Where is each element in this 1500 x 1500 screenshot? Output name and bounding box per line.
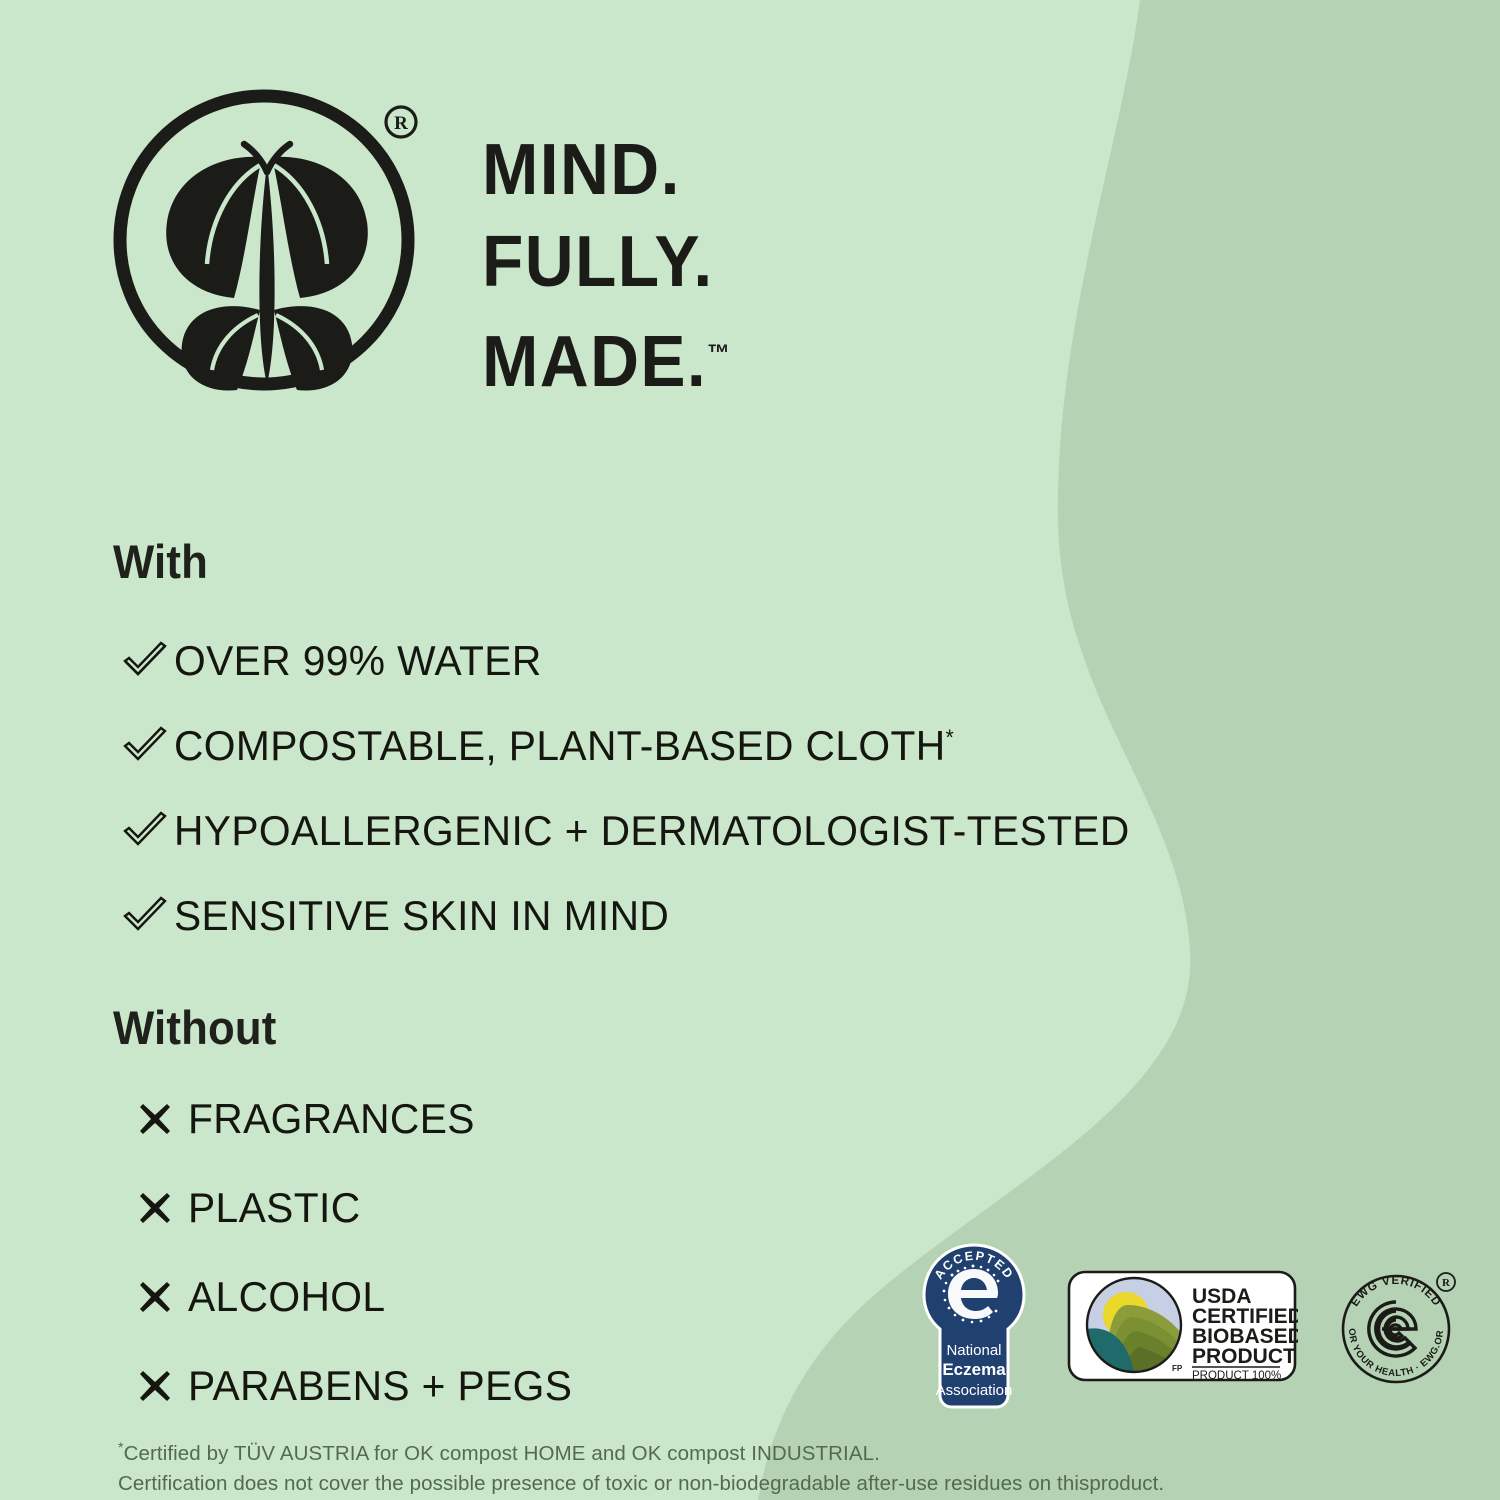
- check-icon: [122, 726, 174, 766]
- check-icon: [122, 896, 174, 936]
- list-item: FRAGRANCES: [136, 1088, 584, 1150]
- cross-icon: [136, 1100, 188, 1138]
- wordmark-line-2: FULLY.: [482, 216, 730, 308]
- footnote-line-1: *Certified by TÜV AUSTRIA for OK compost…: [118, 1432, 1388, 1469]
- without-list: FRAGRANCES PLASTIC ALCOHOL: [136, 1088, 584, 1444]
- cross-icon: [136, 1278, 188, 1316]
- list-item: COMPOSTABLE, PLANT-BASED CLOTH*: [122, 715, 1159, 777]
- footnote-marker: *: [946, 725, 955, 750]
- butterfly-in-circle-logo: R: [112, 72, 422, 412]
- wordmark-line-1: MIND.: [482, 124, 730, 216]
- list-item: OVER 99% WATER: [122, 630, 1159, 692]
- list-item-label: SENSITIVE SKIN IN MIND: [174, 895, 669, 937]
- check-icon: [122, 811, 174, 851]
- list-item-label: COMPOSTABLE, PLANT-BASED CLOTH*: [174, 725, 954, 767]
- certification-badge-row: ACCEPTED Nationa: [918, 1243, 1464, 1409]
- list-item: PARABENS + PEGS: [136, 1355, 584, 1417]
- usda-certified-biobased-product-badge: FP USDA CERTIFIED BIOBASED PRODUCT PRODU…: [1066, 1261, 1298, 1391]
- svg-text:R: R: [1442, 1277, 1451, 1289]
- cross-icon: [136, 1189, 188, 1227]
- wordmark-line-3: MADE.™: [482, 308, 730, 408]
- concentric-e-icon: [1369, 1302, 1416, 1356]
- registered-mark-icon: R: [1437, 1273, 1455, 1291]
- list-item-label: PLASTIC: [188, 1187, 361, 1229]
- list-item-label: ALCOHOL: [188, 1276, 385, 1318]
- badge-sub-text: PRODUCT 100%: [1192, 1370, 1281, 1382]
- footnote-line-2: Certification does not cover the possibl…: [118, 1469, 1388, 1499]
- list-item: SENSITIVE SKIN IN MIND: [122, 885, 1159, 947]
- list-item: PLASTIC: [136, 1177, 584, 1239]
- list-item-label: PARABENS + PEGS: [188, 1365, 572, 1407]
- registered-mark-icon: R: [386, 107, 416, 137]
- cross-icon: [136, 1367, 188, 1405]
- badge-line-1: National: [946, 1342, 1001, 1359]
- list-item-label: HYPOALLERGENIC + DERMATOLOGIST-TESTED: [174, 810, 1130, 852]
- list-item: ALCOHOL: [136, 1266, 584, 1328]
- product-claims-panel: R MIND.: [0, 0, 1500, 1500]
- wordmark-line-3-text: MADE.: [482, 322, 707, 402]
- list-item-label: FRAGRANCES: [188, 1098, 475, 1140]
- badge-top-text: EWG VERIFIED: [1349, 1275, 1443, 1309]
- check-icon: [122, 641, 174, 681]
- footnote: *Certified by TÜV AUSTRIA for OK compost…: [118, 1432, 1388, 1499]
- brand-wordmark: MIND. FULLY. MADE.™: [482, 124, 746, 408]
- with-list: OVER 99% WATER COMPOSTABLE, PLANT-BASED …: [122, 630, 1159, 970]
- badge-line-3: Association: [936, 1382, 1013, 1399]
- ewg-verified-badge: EWG VERIFIED FOR YOUR HEALTH · EWG.ORG R: [1334, 1261, 1464, 1391]
- with-section-heading: With: [113, 534, 208, 589]
- badge-line-2: Eczema: [942, 1360, 1006, 1379]
- brand-header: R MIND.: [112, 72, 746, 412]
- badge-line-4: PRODUCT: [1192, 1345, 1296, 1368]
- list-item: HYPOALLERGENIC + DERMATOLOGIST-TESTED: [122, 800, 1159, 862]
- list-item-label: OVER 99% WATER: [174, 640, 542, 682]
- national-eczema-association-badge: ACCEPTED Nationa: [918, 1243, 1030, 1409]
- badge-corner-mark: FP: [1172, 1364, 1183, 1373]
- svg-text:R: R: [394, 113, 408, 134]
- trademark-mark: ™: [707, 340, 730, 367]
- without-section-heading: Without: [113, 1000, 277, 1055]
